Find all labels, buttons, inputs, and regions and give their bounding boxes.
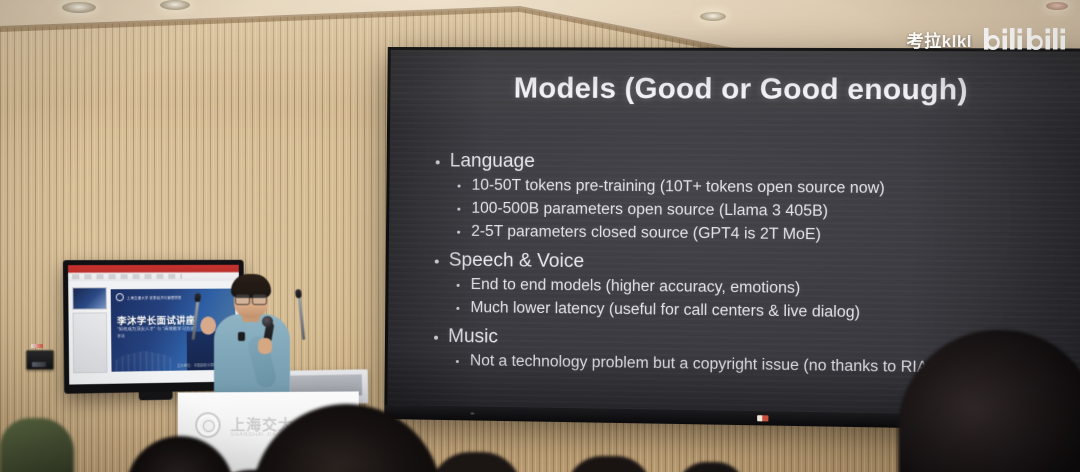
presenter-hand: [258, 338, 272, 354]
bullet-item: 2-5T parameters closed source (GPT4 is 2…: [433, 222, 1080, 246]
ceiling-downlight-icon: [700, 12, 726, 21]
slide-thumbnail[interactable]: [72, 287, 107, 309]
microphone-head-icon: [262, 316, 273, 327]
slide-section-language: Language 10-50T tokens pre-training (10T…: [433, 150, 1080, 247]
watermark-username: 考拉klkl: [907, 27, 972, 52]
bezel-sensor-icon: [470, 412, 474, 414]
mini-slide-subtitle: "如何成为顶尖人才" 与 "高效能学习方法": [117, 326, 196, 333]
gate-illustration-icon: [115, 345, 173, 372]
wall-panel-led-icon: [31, 344, 43, 348]
bullet-item: Much lower latency (useful for call cent…: [432, 299, 1080, 325]
ceiling-downlight-icon: [160, 0, 190, 10]
university-logo-icon: [195, 412, 220, 438]
bullet-item: 10-50T tokens pre-training (10T+ tokens …: [433, 176, 1080, 199]
mini-slide-speaker: 李沐: [117, 334, 125, 339]
mini-slide-org-line: 上海交通大学 安泰经济与管理学院: [127, 294, 182, 299]
power-led-icon: [757, 415, 768, 421]
slide-title: Models (Good or Good enough): [390, 72, 1080, 108]
mini-slide-org-header: 上海交通大学 安泰经济与管理学院: [116, 293, 182, 301]
wall-control-panel[interactable]: [26, 350, 54, 370]
section-heading: Language: [434, 150, 1080, 177]
slide-section-speech-voice: Speech & Voice End to end models (higher…: [432, 249, 1080, 325]
lapel-microphone-icon: [238, 332, 245, 341]
audience-head: [0, 418, 74, 472]
lecture-hall-photo: Models (Good or Good enough) Language 10…: [0, 0, 1080, 472]
bullet-item: End to end models (higher accuracy, emot…: [432, 276, 1080, 302]
bilibili-logo-icon: [982, 26, 1066, 52]
video-watermark: 考拉klkl: [907, 26, 1066, 52]
bullet-item: 100-500B parameters open source (Llama 3…: [433, 199, 1080, 223]
university-seal-icon: [116, 293, 124, 301]
monitor-stand: [139, 392, 173, 401]
slide-thumbnail-panel[interactable]: [73, 312, 108, 373]
ceiling-downlight-icon: [1046, 2, 1068, 10]
glasses-icon: [235, 294, 267, 303]
ceiling-downlight-icon: [62, 2, 96, 13]
section-heading: Speech & Voice: [433, 249, 1080, 278]
